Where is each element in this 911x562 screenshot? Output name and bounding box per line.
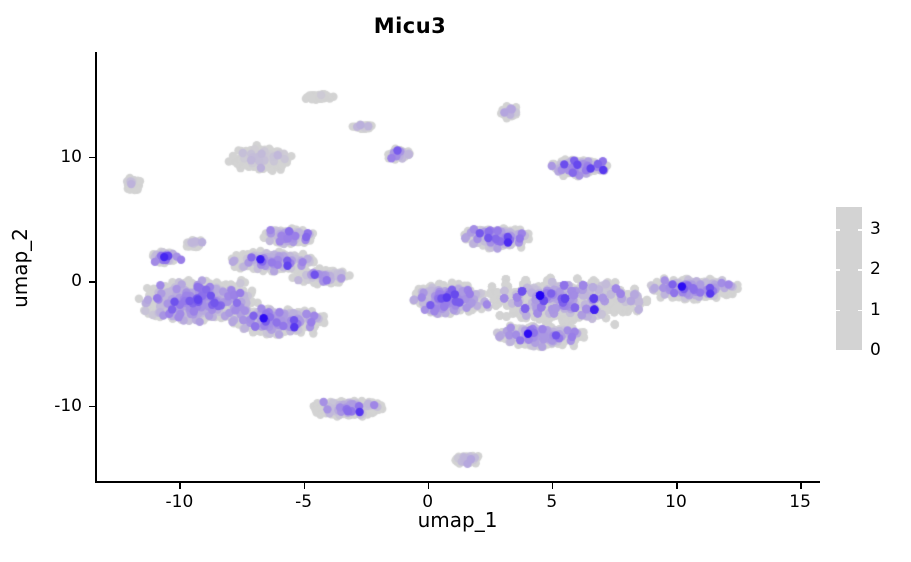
x-tick-mark [676, 483, 678, 489]
x-tick-mark [552, 483, 554, 489]
colorbar-tick-label: 1 [870, 300, 881, 320]
colorbar-tick-mark [858, 269, 862, 270]
colorbar-tick-mark [836, 229, 840, 230]
x-tick-mark [800, 483, 802, 489]
x-axis-label: umap_1 [95, 508, 820, 532]
y-axis-spine [95, 52, 97, 483]
colorbar-tick-mark [836, 269, 840, 270]
x-tick-mark [304, 483, 306, 489]
colorbar-tick-mark [836, 350, 840, 351]
colorbar-tick-mark [836, 310, 840, 311]
y-tick-label: 10 [60, 147, 82, 167]
plot-axes: -10-5051015 -10010 [95, 52, 820, 483]
colorbar-tick-mark [858, 310, 862, 311]
x-tick-mark [179, 483, 181, 489]
y-axis-label-text: umap_2 [8, 228, 32, 308]
colorbar-tick-mark [858, 229, 862, 230]
colorbar-tick-mark [858, 350, 862, 351]
colorbar-tick-label: 0 [870, 340, 881, 360]
y-tick-mark [89, 406, 95, 408]
x-tick-mark [428, 483, 430, 489]
scatter-plot-canvas [95, 52, 820, 483]
colorbar-legend [836, 207, 862, 350]
umap-feature-plot: Micu3 -10-5051015 -10010 umap_1 umap_2 0… [0, 0, 911, 562]
y-tick-label: -10 [54, 396, 82, 416]
y-tick-mark [89, 157, 95, 159]
y-tick-mark [89, 281, 95, 283]
x-axis-spine [95, 481, 820, 483]
colorbar-tick-label: 2 [870, 259, 881, 279]
colorbar-tick-label: 3 [870, 219, 881, 239]
y-tick-label: 0 [71, 271, 82, 291]
page-title: Micu3 [0, 14, 820, 38]
y-axis-label: umap_2 [8, 52, 32, 483]
